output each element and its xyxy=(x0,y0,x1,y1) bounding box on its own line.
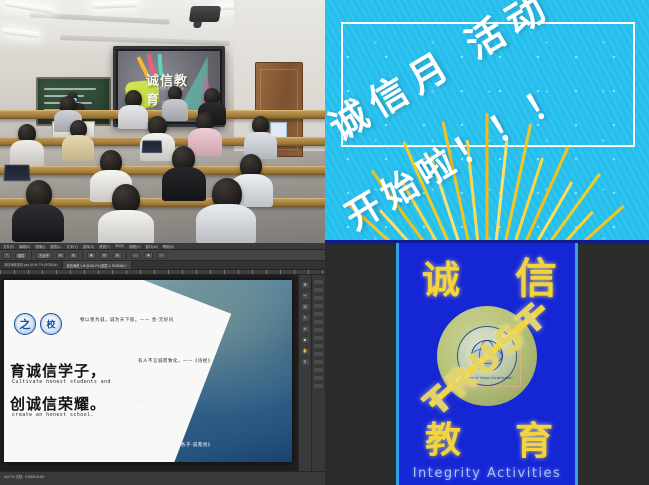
lasso-tool-icon[interactable]: ⤳ xyxy=(301,292,310,300)
panel-trust-poster: 诚 信 College of Urban Construction TRUST … xyxy=(325,243,649,485)
crop-tool-icon[interactable]: ⏣ xyxy=(301,303,310,311)
menu-3d[interactable]: 3D(D) xyxy=(115,244,124,248)
align-left-button[interactable]: 左对齐 xyxy=(36,252,52,259)
photoshop-canvas-area[interactable]: 之 校 育诚信学子， Cultivate honest students and… xyxy=(0,275,298,471)
panel-chip[interactable] xyxy=(313,367,324,373)
student-body xyxy=(98,210,154,243)
trust-char-4: 育 xyxy=(515,410,553,465)
photoshop-menubar[interactable]: 文件(F) 编辑(E) 图像(I) 图层(L) 文字(Y) 选择(S) 滤镜(T… xyxy=(0,243,325,250)
align-vcenter-button[interactable]: ▧ xyxy=(100,252,109,259)
menu-window[interactable]: 窗口(W) xyxy=(145,244,157,249)
student-seating xyxy=(0,102,325,243)
artwork-quote-3: 小信诚则大信立。——韩非子 xyxy=(130,398,195,404)
menu-file[interactable]: 文件(F) xyxy=(3,244,14,249)
collage-grid: 诚信教育 诚信教育主题班会 主讲人：辅导员 班级：一二三班 时间：六月上旬 xyxy=(0,0,649,485)
trust-char-1: 诚 xyxy=(422,249,460,304)
trust-caption-en: Integrity Activities xyxy=(413,466,562,481)
3d-mode-button[interactable]: ◉ xyxy=(144,252,153,259)
align-bottom-button[interactable]: ▨ xyxy=(113,252,122,259)
artwork-headline-cn-1: 育诚信学子， xyxy=(10,360,106,381)
trust-char-3: 教 xyxy=(425,411,461,463)
align-hcenter-button[interactable]: ▤ xyxy=(56,252,65,259)
logo-1-glyph: 之 xyxy=(20,316,31,332)
panel-chip[interactable] xyxy=(313,359,324,365)
menu-image[interactable]: 图像(I) xyxy=(35,244,45,249)
artwork-headline-en-1: Cultivate honest students and xyxy=(12,379,111,385)
panel-chip[interactable] xyxy=(313,319,324,325)
panel-chip[interactable] xyxy=(313,311,324,317)
divider xyxy=(31,251,32,259)
workspace-button[interactable]: ☆ xyxy=(157,252,166,259)
artwork-headline-en-2: create an honest school. xyxy=(12,412,94,418)
artwork-quote-1: 物以善为诚，诚为天下程。—— 金·元好问 xyxy=(80,317,174,323)
brush-tool-icon[interactable]: ✎ xyxy=(301,314,310,322)
university-logo-2: 校 xyxy=(40,313,62,335)
align-right-button[interactable]: ▥ xyxy=(69,252,78,259)
active-tool-indicator[interactable]: + xyxy=(3,252,11,259)
artwork-quote-2: 有人不言诚而致化。——《诗经》 xyxy=(138,358,213,364)
shape-tool-icon[interactable]: ■ xyxy=(301,336,310,344)
logo-2-glyph: 校 xyxy=(46,318,55,331)
student-body xyxy=(10,140,44,166)
photoshop-status-bar: 66.67% 文档：9.82M/18.4M xyxy=(0,471,325,485)
zoom-tool-icon[interactable]: ⚲ xyxy=(301,358,310,366)
trust-poster-canvas: 诚 信 College of Urban Construction TRUST … xyxy=(396,243,578,485)
hand-tool-icon[interactable]: ✋ xyxy=(301,347,310,355)
tab-active-document[interactable]: 诚信海报 1.tif @ 66.7% (图层 1, RGB/8#) * xyxy=(62,260,132,269)
text-tool-icon[interactable]: A xyxy=(301,325,310,333)
menu-select[interactable]: 选择(S) xyxy=(83,244,94,249)
auto-select-dropdown[interactable]: 图层 xyxy=(15,252,27,259)
tab-inactive[interactable]: 诚信海报素材.psd @ 66.7% (RGB/8#) xyxy=(0,260,62,269)
divider xyxy=(126,251,127,259)
panel-chip[interactable] xyxy=(313,351,324,357)
panel-chip[interactable] xyxy=(313,343,324,349)
artwork-quote-5: ——论·刘豫《清各子·说苑创》 xyxy=(144,442,213,448)
desk-row xyxy=(0,166,325,175)
move-tool-icon[interactable]: ✥ xyxy=(301,281,310,289)
photoshop-document-tabs[interactable]: 诚信海报素材.psd @ 66.7% (RGB/8#) 诚信海报 1.tif @… xyxy=(0,261,325,270)
university-logo-1: 之 xyxy=(14,313,36,335)
panel-chip[interactable] xyxy=(313,335,324,341)
status-zoom-and-size: 66.67% 文档：9.82M/18.4M xyxy=(4,474,44,479)
projector-icon xyxy=(189,6,221,22)
panel-photoshop-window: 文件(F) 编辑(E) 图像(I) 图层(L) 文字(Y) 选择(S) 滤镜(T… xyxy=(0,243,325,485)
panel-chip[interactable] xyxy=(313,327,324,333)
photoshop-panel-column[interactable] xyxy=(311,275,325,471)
student-body xyxy=(118,105,148,129)
trust-char-2: 信 xyxy=(515,245,557,306)
panel-chip[interactable] xyxy=(313,383,324,389)
laptop-icon xyxy=(142,140,163,153)
artwork-quote-4: 事先创而后君子，人先信而后求诚。 xyxy=(104,428,184,434)
student-body xyxy=(162,167,206,201)
panel-chip[interactable] xyxy=(313,287,324,293)
menu-filter[interactable]: 滤镜(T) xyxy=(99,244,110,249)
align-top-button[interactable]: ▦ xyxy=(87,252,96,259)
student-body xyxy=(162,99,188,121)
laptop-icon xyxy=(3,165,30,182)
student-body xyxy=(196,204,256,243)
menu-layer[interactable]: 图层(L) xyxy=(50,244,61,249)
menu-help[interactable]: 帮助(H) xyxy=(163,244,175,249)
menu-view[interactable]: 视图(V) xyxy=(129,244,140,249)
panel-chip[interactable] xyxy=(313,303,324,309)
menu-edit[interactable]: 编辑(E) xyxy=(19,244,30,249)
panel-classroom-photo: 诚信教育 诚信教育主题班会 主讲人：辅导员 班级：一二三班 时间：六月上旬 xyxy=(0,0,325,243)
panel-chip[interactable] xyxy=(313,375,324,381)
artwork-headline-cn-2: 创诚信荣耀。 xyxy=(10,393,106,414)
divider xyxy=(82,251,83,259)
menu-type[interactable]: 文字(Y) xyxy=(66,244,77,249)
student-body xyxy=(12,204,64,242)
panel-chip[interactable] xyxy=(313,279,324,285)
poster-artwork-canvas[interactable]: 之 校 育诚信学子， Cultivate honest students and… xyxy=(4,280,292,462)
student-body xyxy=(62,135,94,161)
distribute-button[interactable]: ⋯ xyxy=(131,252,140,259)
panel-integrity-month-poster: 诚信月 活动 开始啦！！！ xyxy=(325,0,649,243)
photoshop-toolbar[interactable]: ✥ ⤳ ⏣ ✎ A ■ ✋ ⚲ xyxy=(298,275,311,471)
panel-chip[interactable] xyxy=(313,295,324,301)
